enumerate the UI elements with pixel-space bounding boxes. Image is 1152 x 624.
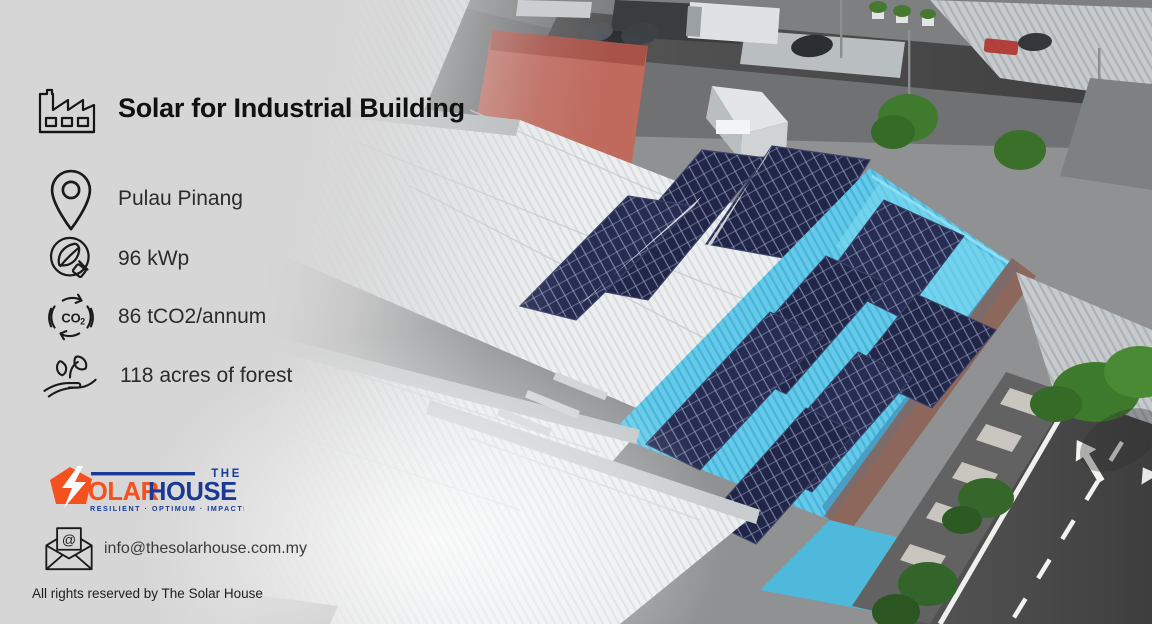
co2-recycle-icon: CO 2 — [44, 292, 98, 342]
email-envelope-icon: @ — [42, 526, 96, 572]
title-row: Solar for Industrial Building — [34, 80, 465, 136]
stat-row-location: Pulau Pinang — [44, 174, 243, 224]
stat-label-forest: 118 acres of forest — [120, 364, 292, 388]
email-address[interactable]: info@thesolarhouse.com.my — [104, 540, 307, 558]
hand-sprout-icon — [40, 351, 100, 401]
stat-row-co2: CO 2 86 tCO2/annum — [44, 292, 266, 342]
location-pin-icon — [44, 174, 98, 224]
info-panel: Solar for Industrial Building Pulau Pina… — [0, 0, 470, 624]
stat-label-location: Pulau Pinang — [118, 187, 243, 211]
copyright-footer: All rights reserved by The Solar House — [32, 586, 263, 601]
svg-text:CO: CO — [61, 310, 80, 325]
svg-text:HOUSE: HOUSE — [148, 478, 237, 506]
factory-icon — [34, 80, 100, 136]
stat-label-co2: 86 tCO2/annum — [118, 305, 266, 329]
email-row[interactable]: @ info@thesolarhouse.com.my — [42, 526, 307, 572]
svg-text:@: @ — [62, 531, 76, 547]
svg-text:RESILIENT · OPTIMUM · IMPACTFU: RESILIENT · OPTIMUM · IMPACTFUL — [90, 504, 244, 513]
solar-project-card: Solar for Industrial Building Pulau Pina… — [0, 0, 1152, 624]
svg-text:2: 2 — [80, 317, 85, 327]
page-title: Solar for Industrial Building — [118, 93, 465, 124]
leaf-plug-icon — [44, 234, 98, 284]
stat-row-forest: 118 acres of forest — [40, 351, 292, 401]
the-solar-house-logo[interactable]: THE OLAR HOUSE RESILIENT · OPTIMUM · IMP… — [44, 462, 244, 514]
stat-row-capacity: 96 kWp — [44, 234, 189, 284]
stat-label-capacity: 96 kWp — [118, 247, 189, 271]
